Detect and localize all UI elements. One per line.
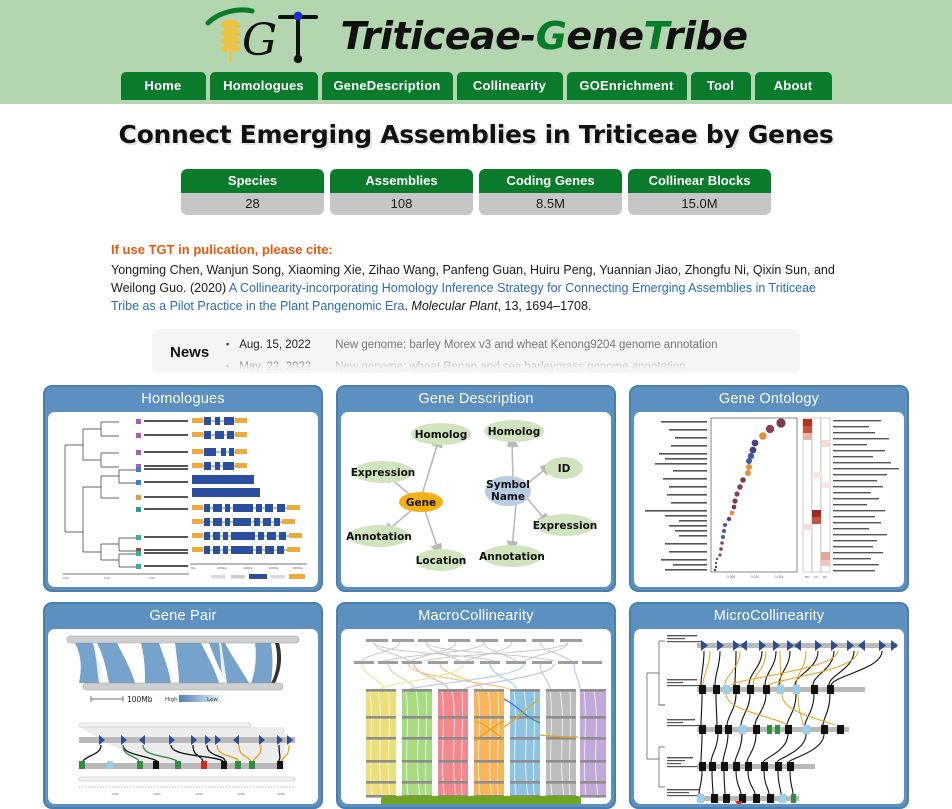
citation-block: If use TGT in pulication, please cite: Y… xyxy=(111,241,841,315)
card-body-homologues: 0.200.100.00 xyxy=(48,412,318,587)
news-item-date: Aug. 15, 2022 xyxy=(239,338,325,352)
micro-collinearity-thumbnail-icon xyxy=(634,629,904,804)
card-title-micro-collinearity: MicroCollinearity xyxy=(631,604,907,629)
news-item-text: New genome: wheat Renan and sea barleygr… xyxy=(335,360,685,374)
svg-text:Symbol: Symbol xyxy=(486,479,530,491)
stat-assemblies-label: Assemblies xyxy=(330,169,473,193)
card-body-macro-collinearity xyxy=(341,629,611,804)
stat-coding-genes-value: 8.5M xyxy=(479,193,622,216)
stat-collinear-blocks: Collinear Blocks 15.0M xyxy=(628,169,771,215)
svg-text:ID: ID xyxy=(558,463,571,475)
macro-collinearity-thumbnail-icon xyxy=(341,629,611,804)
card-body-gene-pair: 100Mb High Low xyxy=(48,629,318,804)
news-panel: News Aug. 15, 2022 New genome: barley Mo… xyxy=(152,329,800,373)
svg-text:0.010: 0.010 xyxy=(751,575,760,579)
card-title-homologues: Homologues xyxy=(45,387,321,412)
svg-text:0.20: 0.20 xyxy=(63,576,69,580)
svg-text:6000bp: 6000bp xyxy=(269,566,279,570)
citation-body: Yongming Chen, Wanjun Song, Xiaoming Xie… xyxy=(111,261,841,315)
page-title: Connect Emerging Assemblies in Triticeae… xyxy=(0,120,952,149)
page-footer-region xyxy=(0,793,952,804)
svg-text:Annotation: Annotation xyxy=(346,531,412,543)
stat-coding-genes: Coding Genes 8.5M xyxy=(479,169,622,215)
svg-text:Name: Name xyxy=(491,491,525,503)
card-title-gene-pair: Gene Pair xyxy=(45,604,321,629)
nav-item-about[interactable]: About xyxy=(755,72,832,100)
citation-journal: Molecular Plant xyxy=(411,299,497,313)
homologues-phylogeny-thumbnail-icon: 0.200.100.00 xyxy=(48,412,318,587)
svg-text:Gene: Gene xyxy=(406,497,436,509)
svg-text:Expression: Expression xyxy=(533,520,598,532)
citation-heading: If use TGT in pulication, please cite: xyxy=(111,241,841,260)
svg-text:Annotation: Annotation xyxy=(479,551,545,563)
nav-item-collinearity[interactable]: Collinearity xyxy=(457,72,563,100)
news-label: News xyxy=(152,329,228,361)
brand-block[interactable]: G Triticeae-GeneTribe xyxy=(0,0,952,72)
stat-collinear-blocks-value: 15.0M xyxy=(628,193,771,216)
svg-text:0.015: 0.015 xyxy=(775,575,784,579)
card-body-micro-collinearity xyxy=(634,629,904,804)
stat-collinear-blocks-label: Collinear Blocks xyxy=(628,169,771,193)
feature-card-micro-collinearity[interactable]: MicroCollinearity xyxy=(629,602,909,809)
nav-item-goenrichment[interactable]: GOEnrichment xyxy=(567,72,687,100)
statistics-bar: Species 28 Assemblies 108 Coding Genes 8… xyxy=(0,169,952,215)
main-navigation: Home Homologues GeneDescription Collinea… xyxy=(0,72,952,100)
citation-period: . xyxy=(404,299,407,313)
site-header: G Triticeae-GeneTribe Home Homologues Ge… xyxy=(0,0,952,104)
svg-text:BP: BP xyxy=(805,575,809,579)
feature-card-gene-pair[interactable]: Gene Pair xyxy=(43,602,323,809)
card-body-gene-description: Homolog Expression Annotation Location G… xyxy=(341,412,611,587)
nav-item-home[interactable]: Home xyxy=(121,72,206,100)
card-title-gene-ontology: Gene Ontology xyxy=(631,387,907,412)
news-list: Aug. 15, 2022 New genome: barley Morex v… xyxy=(228,329,800,373)
stat-species: Species 28 xyxy=(181,169,324,215)
feature-card-homologues[interactable]: Homologues xyxy=(43,385,323,592)
svg-text:Homolog: Homolog xyxy=(488,426,541,438)
svg-text:G: G xyxy=(242,15,277,66)
stat-assemblies: Assemblies 108 xyxy=(330,169,473,215)
stat-species-label: Species xyxy=(181,169,324,193)
svg-text:0bp: 0bp xyxy=(191,566,196,570)
gene-pair-scale-label: 100Mb xyxy=(127,695,153,704)
card-body-gene-ontology: 0.0050.0100.015 xyxy=(634,412,904,587)
svg-text:0.005: 0.005 xyxy=(727,575,736,579)
nav-item-homologues[interactable]: Homologues xyxy=(210,72,318,100)
feature-card-grid: Homologues xyxy=(43,385,909,809)
nav-item-genedescription[interactable]: GeneDescription xyxy=(322,72,453,100)
news-item-text: New genome: barley Morex v3 and wheat Ke… xyxy=(335,338,717,352)
nav-item-tool[interactable]: Tool xyxy=(691,72,751,100)
feature-card-gene-ontology[interactable]: Gene Ontology xyxy=(629,385,909,592)
news-item[interactable]: May. 22, 2022 New genome: wheat Renan an… xyxy=(228,360,800,374)
feature-card-macro-collinearity[interactable]: MacroCollinearity xyxy=(336,602,616,809)
svg-text:Location: Location xyxy=(416,555,467,567)
gene-pair-ribbon-thumbnail-icon: 100Mb High Low xyxy=(48,629,318,804)
news-item-date: May. 22, 2022 xyxy=(239,360,325,374)
svg-text:2000bp: 2000bp xyxy=(217,566,227,570)
svg-text:Expression: Expression xyxy=(351,467,416,479)
tgt-wheat-logo-icon: G xyxy=(204,5,326,67)
feature-card-gene-description[interactable]: Gene Description xyxy=(336,385,616,592)
brand-title: Triticeae-GeneTribe xyxy=(340,14,747,58)
gene-pair-legend-low: Low xyxy=(207,697,218,703)
card-title-gene-description: Gene Description xyxy=(338,387,614,412)
svg-text:0.00: 0.00 xyxy=(149,576,155,580)
citation-volume-pages: , 13, 1694–1708. xyxy=(498,299,592,313)
gene-description-graph-thumbnail-icon: Homolog Expression Annotation Location G… xyxy=(341,412,611,587)
news-item[interactable]: Aug. 15, 2022 New genome: barley Morex v… xyxy=(228,338,800,352)
stat-assemblies-value: 108 xyxy=(330,193,473,216)
gene-pair-legend-high: High xyxy=(165,697,178,703)
svg-text:8000bp: 8000bp xyxy=(293,566,303,570)
stat-species-value: 28 xyxy=(181,193,324,216)
svg-text:Homolog: Homolog xyxy=(415,429,468,441)
svg-text:MF: MF xyxy=(823,575,827,579)
card-title-macro-collinearity: MacroCollinearity xyxy=(338,604,614,629)
gene-ontology-dotplot-thumbnail-icon: 0.0050.0100.015 xyxy=(634,412,904,587)
page-footer-green-bar[interactable] xyxy=(381,796,581,804)
svg-text:0.10: 0.10 xyxy=(104,576,110,580)
stat-coding-genes-label: Coding Genes xyxy=(479,169,622,193)
svg-text:4000bp: 4000bp xyxy=(243,566,253,570)
